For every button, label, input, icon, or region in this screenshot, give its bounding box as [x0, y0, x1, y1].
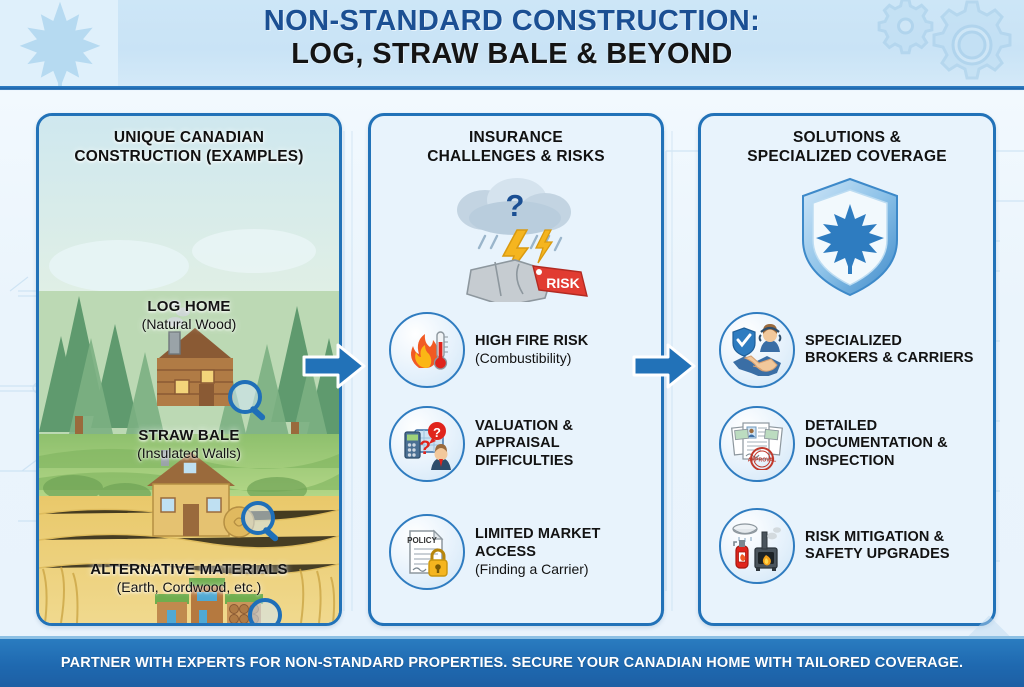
mid-item-3-title: LIMITED MARKET ACCESS — [475, 526, 645, 561]
mid-item-1-text: HIGH FIRE RISK (Combustibility) — [475, 333, 588, 367]
panel-insurance-challenges-risks: INSURANCE CHALLENGES & RISKS ? — [368, 113, 664, 626]
right-item-risk-mitigation: RISK MITIGATION & SAFETY UPGRADES — [719, 508, 977, 584]
right-item-2-text: DETAILED DOCUMENTATION & INSPECTION — [805, 418, 977, 470]
policy-document-lock-icon: POLICY — [389, 514, 465, 590]
mid-item-limited-market-access: POLICY LIMITED MARKET — [389, 514, 645, 590]
left-item-straw-bale: STRAW BALE (Insulated Walls) — [39, 427, 339, 461]
maple-leaf-shield-icon — [798, 176, 902, 298]
footer-banner: PARTNER WITH EXPERTS FOR NON-STANDARD PR… — [0, 639, 1024, 687]
footer-text: PARTNER WITH EXPERTS FOR NON-STANDARD PR… — [61, 655, 963, 671]
mid-item-2-title: VALUATION & APPRAISAL DIFFICULTIES — [475, 418, 645, 470]
flow-arrow-2-icon — [632, 341, 696, 391]
panel-left-title-line-2: CONSTRUCTION (EXAMPLES) — [47, 147, 331, 166]
mid-item-1-title: HIGH FIRE RISK — [475, 333, 588, 350]
mid-item-valuation-appraisal: ? ? VALUATION & APPRAISAL DIFFICULTIE — [389, 406, 645, 482]
svg-text:?: ? — [506, 188, 525, 223]
flow-arrow-1-icon — [302, 341, 366, 391]
panel-right-title-line-2: SPECIALIZED COVERAGE — [709, 147, 985, 166]
mid-item-3-subtitle: (Finding a Carrier) — [475, 561, 645, 578]
svg-text:?: ? — [433, 425, 441, 440]
right-item-detailed-documentation: APPROVAL DETAILED DOCUMENTATION & INSPEC… — [719, 406, 977, 482]
left-item-straw-bale-subtitle: (Insulated Walls) — [39, 445, 339, 461]
infographic-canvas: NON-STANDARD CONSTRUCTION: LOG, STRAW BA… — [0, 0, 1024, 687]
panel-mid-title-line-2: CHALLENGES & RISKS — [379, 147, 653, 166]
left-item-log-home-subtitle: (Natural Wood) — [39, 316, 339, 332]
panel-left-title-line-1: UNIQUE CANADIAN — [47, 128, 331, 147]
header-divider — [0, 86, 1024, 90]
mid-item-1-subtitle: (Combustibility) — [475, 350, 588, 367]
canadian-construction-scene — [39, 116, 339, 623]
right-item-specialized-brokers: SPECIALIZED BROKERS & CARRIERS — [719, 312, 977, 388]
approval-stamp-label: APPROVAL — [748, 458, 777, 464]
left-item-log-home: LOG HOME (Natural Wood) — [39, 298, 339, 332]
left-item-alternative-materials-subtitle: (Earth, Cordwood, etc.) — [39, 579, 339, 595]
body-area: UNIQUE CANADIAN CONSTRUCTION (EXAMPLES) … — [0, 91, 1024, 639]
panel-solutions-specialized-coverage: SOLUTIONS & SPECIALIZED COVERAGE — [698, 113, 996, 626]
panel-right-title-line-1: SOLUTIONS & — [709, 128, 985, 147]
right-item-1-text: SPECIALIZED BROKERS & CARRIERS — [805, 333, 977, 368]
title-line-1: NON-STANDARD CONSTRUCTION: — [0, 6, 1024, 36]
right-item-3-text: RISK MITIGATION & SAFETY UPGRADES — [805, 529, 977, 564]
left-item-log-home-title: LOG HOME — [39, 298, 339, 315]
left-item-alternative-materials: ALTERNATIVE MATERIALS (Earth, Cordwood, … — [39, 561, 339, 595]
fire-thermometer-icon — [389, 312, 465, 388]
title-line-2: LOG, STRAW BALE & BEYOND — [0, 39, 1024, 69]
storm-cloud-risk-tag-icon: ? RISK — [433, 174, 601, 302]
page-title: NON-STANDARD CONSTRUCTION: LOG, STRAW BA… — [0, 6, 1024, 69]
handshake-agent-shield-icon — [719, 312, 795, 388]
right-item-2-title: DETAILED DOCUMENTATION & INSPECTION — [805, 418, 977, 470]
right-item-1-title: SPECIALIZED BROKERS & CARRIERS — [805, 333, 977, 368]
calculator-question-appraiser-icon: ? ? — [389, 406, 465, 482]
risk-tag-label: RISK — [546, 275, 579, 291]
panel-left-title: UNIQUE CANADIAN CONSTRUCTION (EXAMPLES) — [39, 116, 339, 167]
mid-item-2-text: VALUATION & APPRAISAL DIFFICULTIES — [475, 418, 645, 470]
panel-mid-title-line-1: INSURANCE — [379, 128, 653, 147]
mid-item-high-fire-risk: HIGH FIRE RISK (Combustibility) — [389, 312, 645, 388]
left-item-alternative-materials-title: ALTERNATIVE MATERIALS — [39, 561, 339, 578]
policy-doc-label: POLICY — [407, 536, 437, 545]
mid-item-3-text: LIMITED MARKET ACCESS (Finding a Carrier… — [475, 526, 645, 578]
documents-approval-stamp-icon: APPROVAL — [719, 406, 795, 482]
right-item-3-title: RISK MITIGATION & SAFETY UPGRADES — [805, 529, 977, 564]
left-item-straw-bale-title: STRAW BALE — [39, 427, 339, 444]
panel-mid-title: INSURANCE CHALLENGES & RISKS — [371, 116, 661, 167]
panel-unique-canadian-construction: UNIQUE CANADIAN CONSTRUCTION (EXAMPLES) … — [36, 113, 342, 626]
extinguisher-smoke-alarm-stove-icon — [719, 508, 795, 584]
header-band: NON-STANDARD CONSTRUCTION: LOG, STRAW BA… — [0, 0, 1024, 90]
panel-right-title: SOLUTIONS & SPECIALIZED COVERAGE — [701, 116, 993, 167]
svg-text:?: ? — [419, 438, 431, 459]
